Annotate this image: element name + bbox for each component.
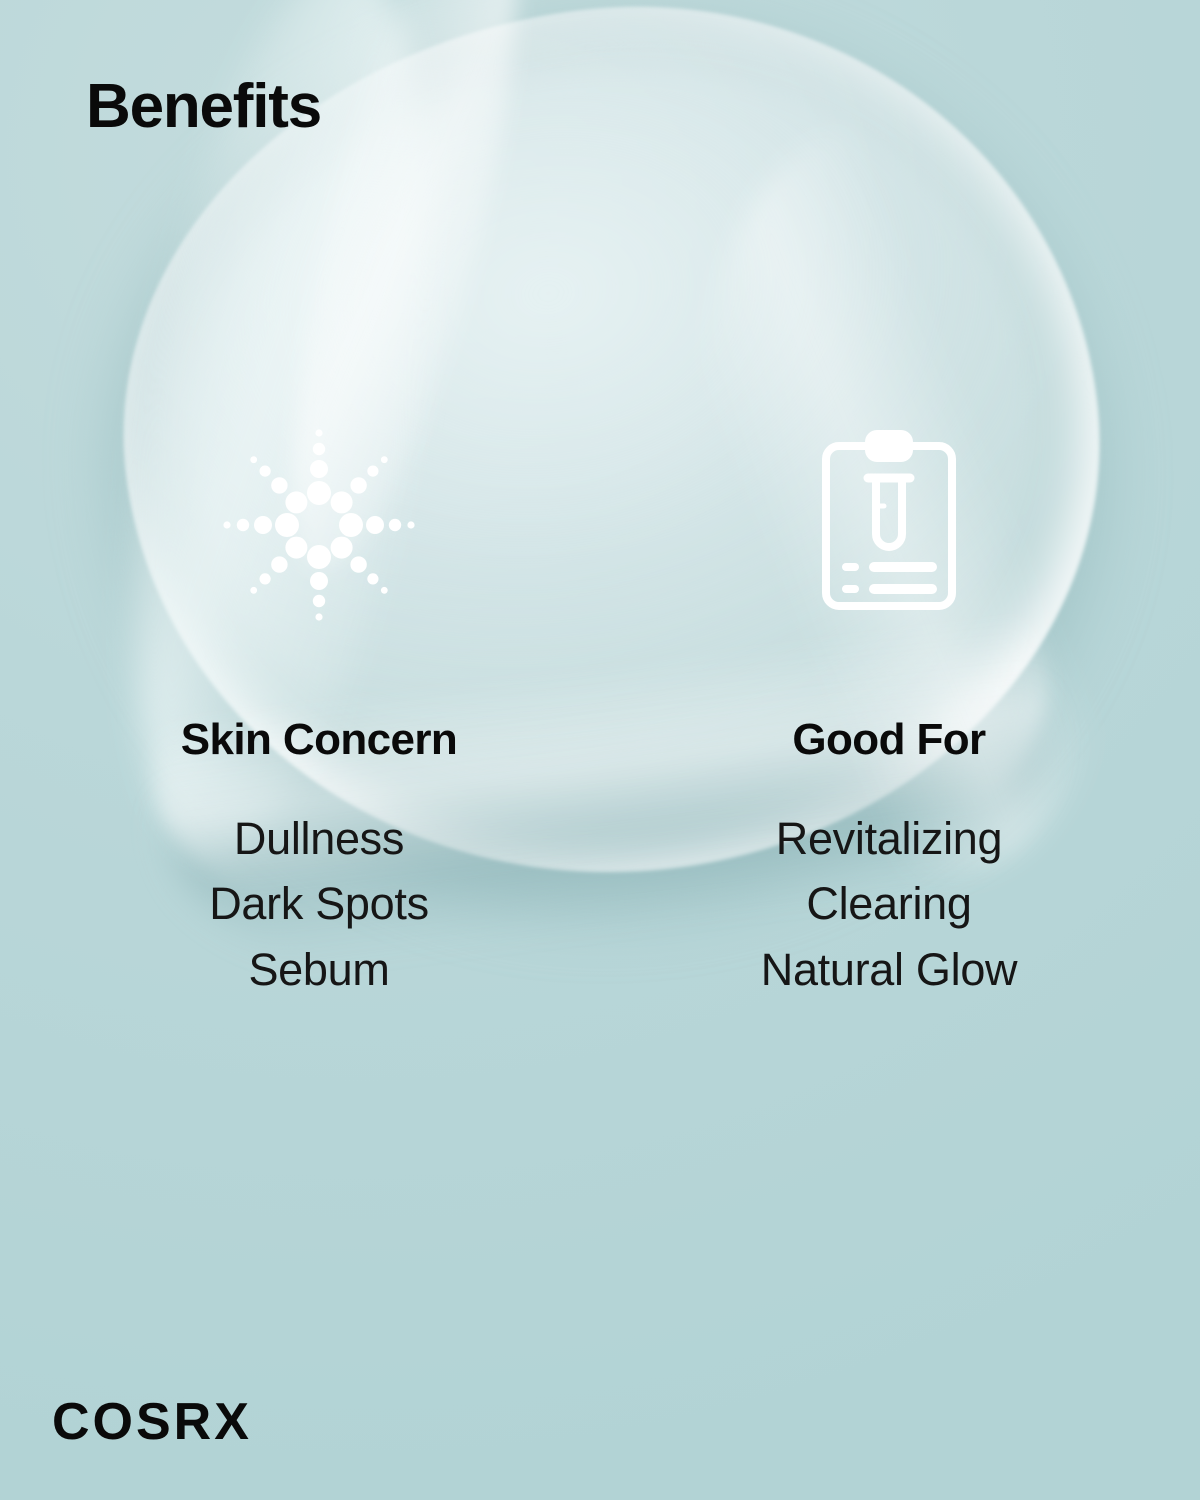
benefit-column-good-for: Good For Revitalizing Clearing Natural G… bbox=[604, 420, 1174, 1002]
benefits-columns: Skin Concern Dullness Dark Spots Sebum bbox=[0, 420, 1200, 1002]
sparkle-dots-icon bbox=[219, 420, 419, 630]
list-item: Clearing bbox=[761, 871, 1018, 936]
benefit-column-skin-concern: Skin Concern Dullness Dark Spots Sebum bbox=[34, 420, 604, 1002]
list-item: Natural Glow bbox=[761, 937, 1018, 1002]
benefit-list: Dullness Dark Spots Sebum bbox=[209, 806, 429, 1002]
benefit-list: Revitalizing Clearing Natural Glow bbox=[761, 806, 1018, 1002]
list-item: Dullness bbox=[209, 806, 429, 871]
page-title: Benefits bbox=[86, 76, 321, 138]
benefits-infographic: Benefits bbox=[0, 0, 1200, 1500]
column-heading: Skin Concern bbox=[181, 718, 457, 762]
list-item: Dark Spots bbox=[209, 871, 429, 936]
clipboard-test-tube-icon bbox=[814, 420, 964, 630]
list-item: Revitalizing bbox=[761, 806, 1018, 871]
brand-logo: COSRX bbox=[52, 1396, 252, 1448]
list-item: Sebum bbox=[209, 937, 429, 1002]
column-heading: Good For bbox=[792, 718, 985, 762]
